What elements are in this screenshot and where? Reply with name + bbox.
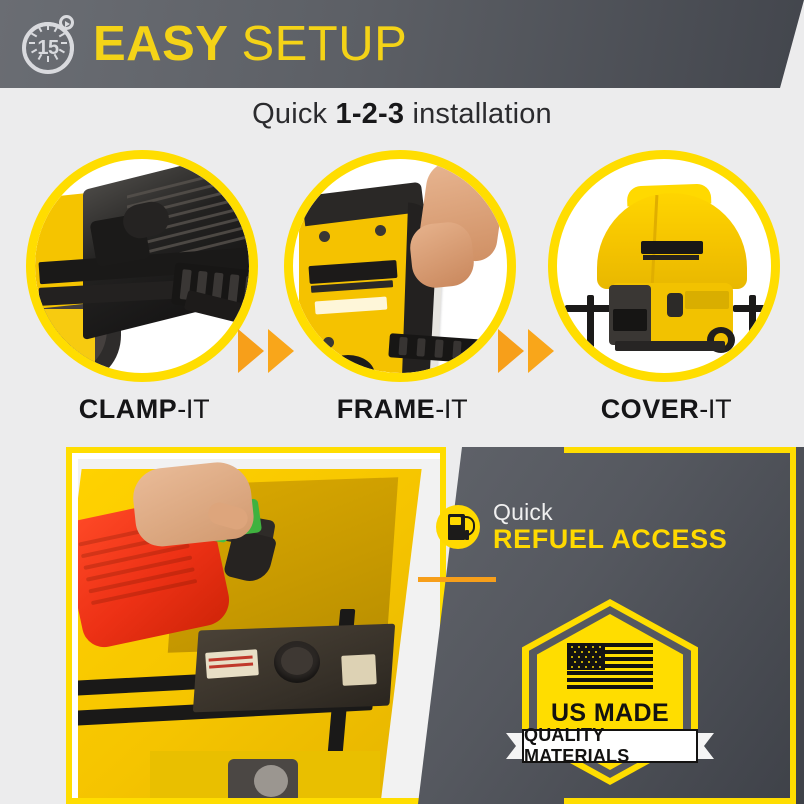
title-setup: SETUP <box>241 16 407 72</box>
frame-photo <box>293 159 507 373</box>
ribbon-text: QUALITY MATERIALS <box>522 729 698 763</box>
features-panel: Quick REFUEL ACCESS <box>418 447 804 804</box>
subtitle: Quick 1-2-3 installation <box>0 98 804 131</box>
panel-border-right <box>790 447 796 804</box>
subtitle-suffix: installation <box>404 98 552 130</box>
step-label-strong: COVER <box>601 394 700 424</box>
cover-photo <box>557 159 771 373</box>
step-frame-it: FRAME-IT <box>284 150 520 425</box>
subtitle-emphasis: 1-2-3 <box>336 98 405 130</box>
step-image-circle <box>284 150 516 382</box>
step-image-circle <box>26 150 258 382</box>
refuel-label-quick: Quick <box>493 501 727 524</box>
step-label-weak: -IT <box>435 394 467 424</box>
us-flag-icon <box>567 643 653 693</box>
stopwatch-15-icon: 15 <box>18 13 80 75</box>
step-cover-it: COVER-IT <box>548 150 784 425</box>
refuel-photo-frame <box>66 447 446 804</box>
refuel-access-callout: Quick REFUEL ACCESS <box>436 497 736 557</box>
page-title: EASY SETUP <box>93 8 407 80</box>
infographic-page: 15 EASY SETUP Quick 1-2-3 installation <box>0 0 804 804</box>
step-label-weak: -IT <box>177 394 209 424</box>
step-label: FRAME-IT <box>284 394 520 425</box>
step-label-strong: CLAMP <box>79 394 178 424</box>
step-label-weak: -IT <box>699 394 731 424</box>
us-made-badge: US MADE QUALITY MATERIALS <box>504 599 716 795</box>
step-image-circle <box>548 150 780 382</box>
bottom-section: Quick REFUEL ACCESS <box>0 438 804 804</box>
refueling-generator-photo <box>78 459 440 798</box>
step-label: CLAMP-IT <box>26 394 262 425</box>
step-clamp-it: CLAMP-IT <box>26 150 262 425</box>
refuel-label-access: REFUEL ACCESS <box>493 526 727 554</box>
steps-row: CLAMP-IT <box>0 150 804 430</box>
step-label-strong: FRAME <box>337 394 436 424</box>
us-made-title: US MADE <box>504 699 716 728</box>
panel-border-top <box>564 447 796 453</box>
header-banner: 15 EASY SETUP <box>0 0 804 88</box>
step-label: COVER-IT <box>548 394 784 425</box>
panel-border-bottom <box>564 798 796 804</box>
title-easy: EASY <box>93 16 228 72</box>
clamp-photo <box>35 159 249 373</box>
quality-materials-ribbon: QUALITY MATERIALS <box>506 729 714 763</box>
fuel-pump-icon <box>436 505 480 549</box>
subtitle-prefix: Quick <box>252 98 335 130</box>
callout-pointer-line <box>418 571 496 587</box>
